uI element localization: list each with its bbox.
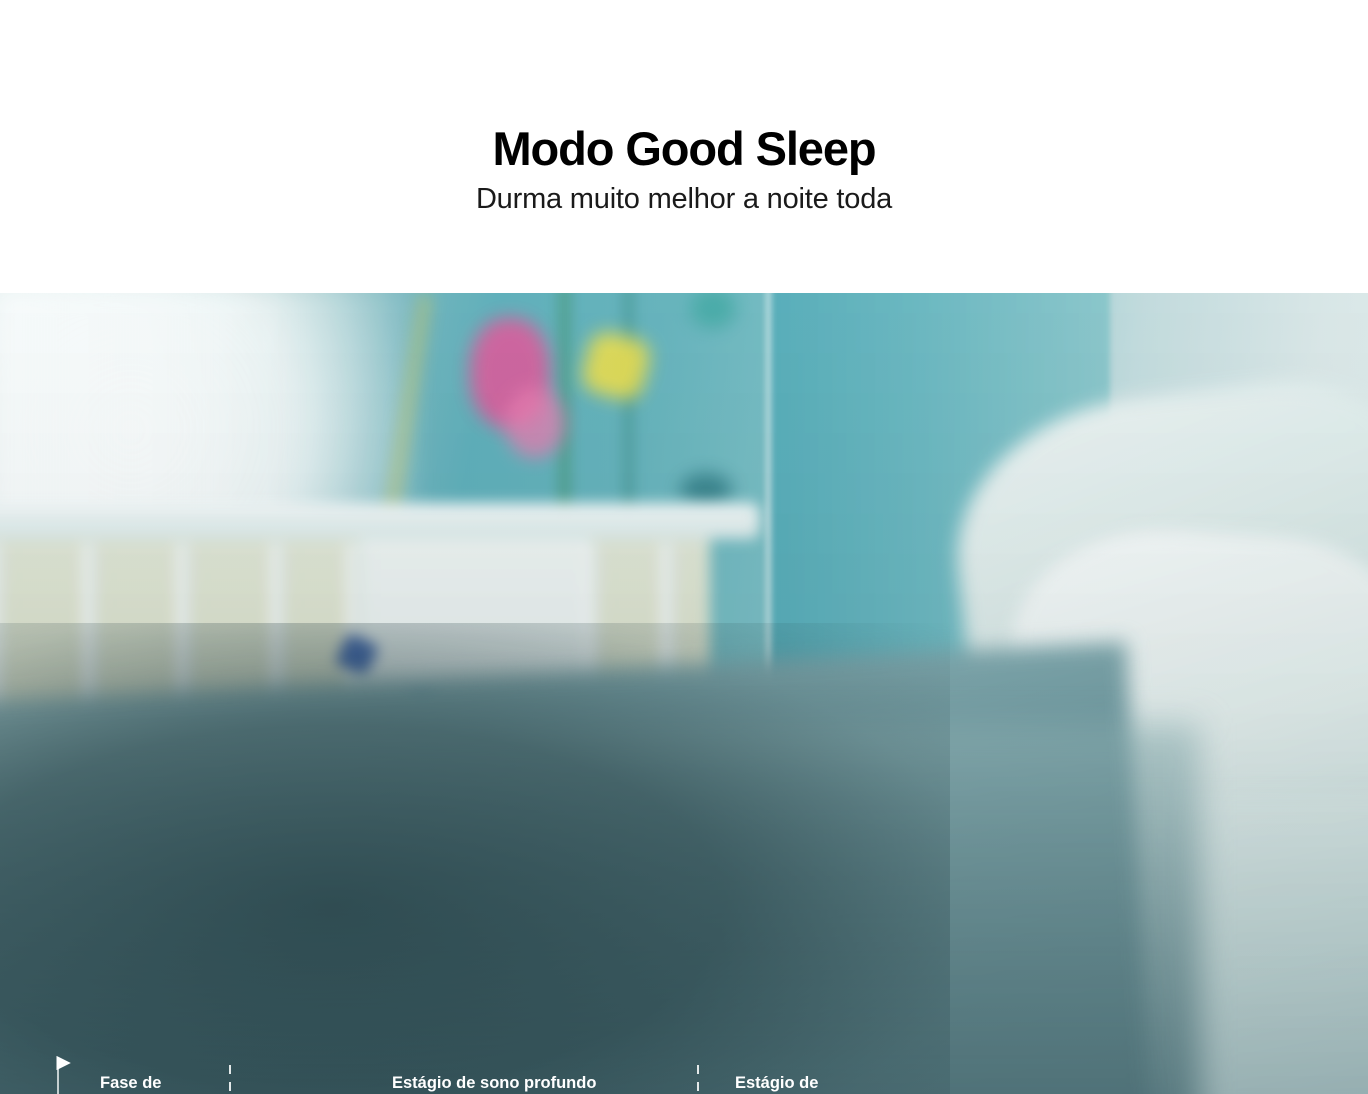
page-header: Modo Good Sleep Durma muito melhor a noi… — [0, 0, 1368, 293]
phase-1-heading-line1: Fase de — [100, 1074, 161, 1092]
phase-3-heading-line1: Estágio de — [735, 1074, 818, 1092]
chart-svg: Temperatura Tempo Fase de adormecer Está… — [0, 293, 1368, 1094]
page-title: Modo Good Sleep — [493, 124, 876, 173]
good-sleep-chart: Temperatura Tempo Fase de adormecer Está… — [0, 293, 1368, 1094]
phase-2-heading: Estágio de sono profundo — [392, 1074, 596, 1092]
good-sleep-page: Modo Good Sleep Durma muito melhor a noi… — [0, 0, 1368, 1094]
page-subtitle: Durma muito melhor a noite toda — [476, 183, 892, 216]
